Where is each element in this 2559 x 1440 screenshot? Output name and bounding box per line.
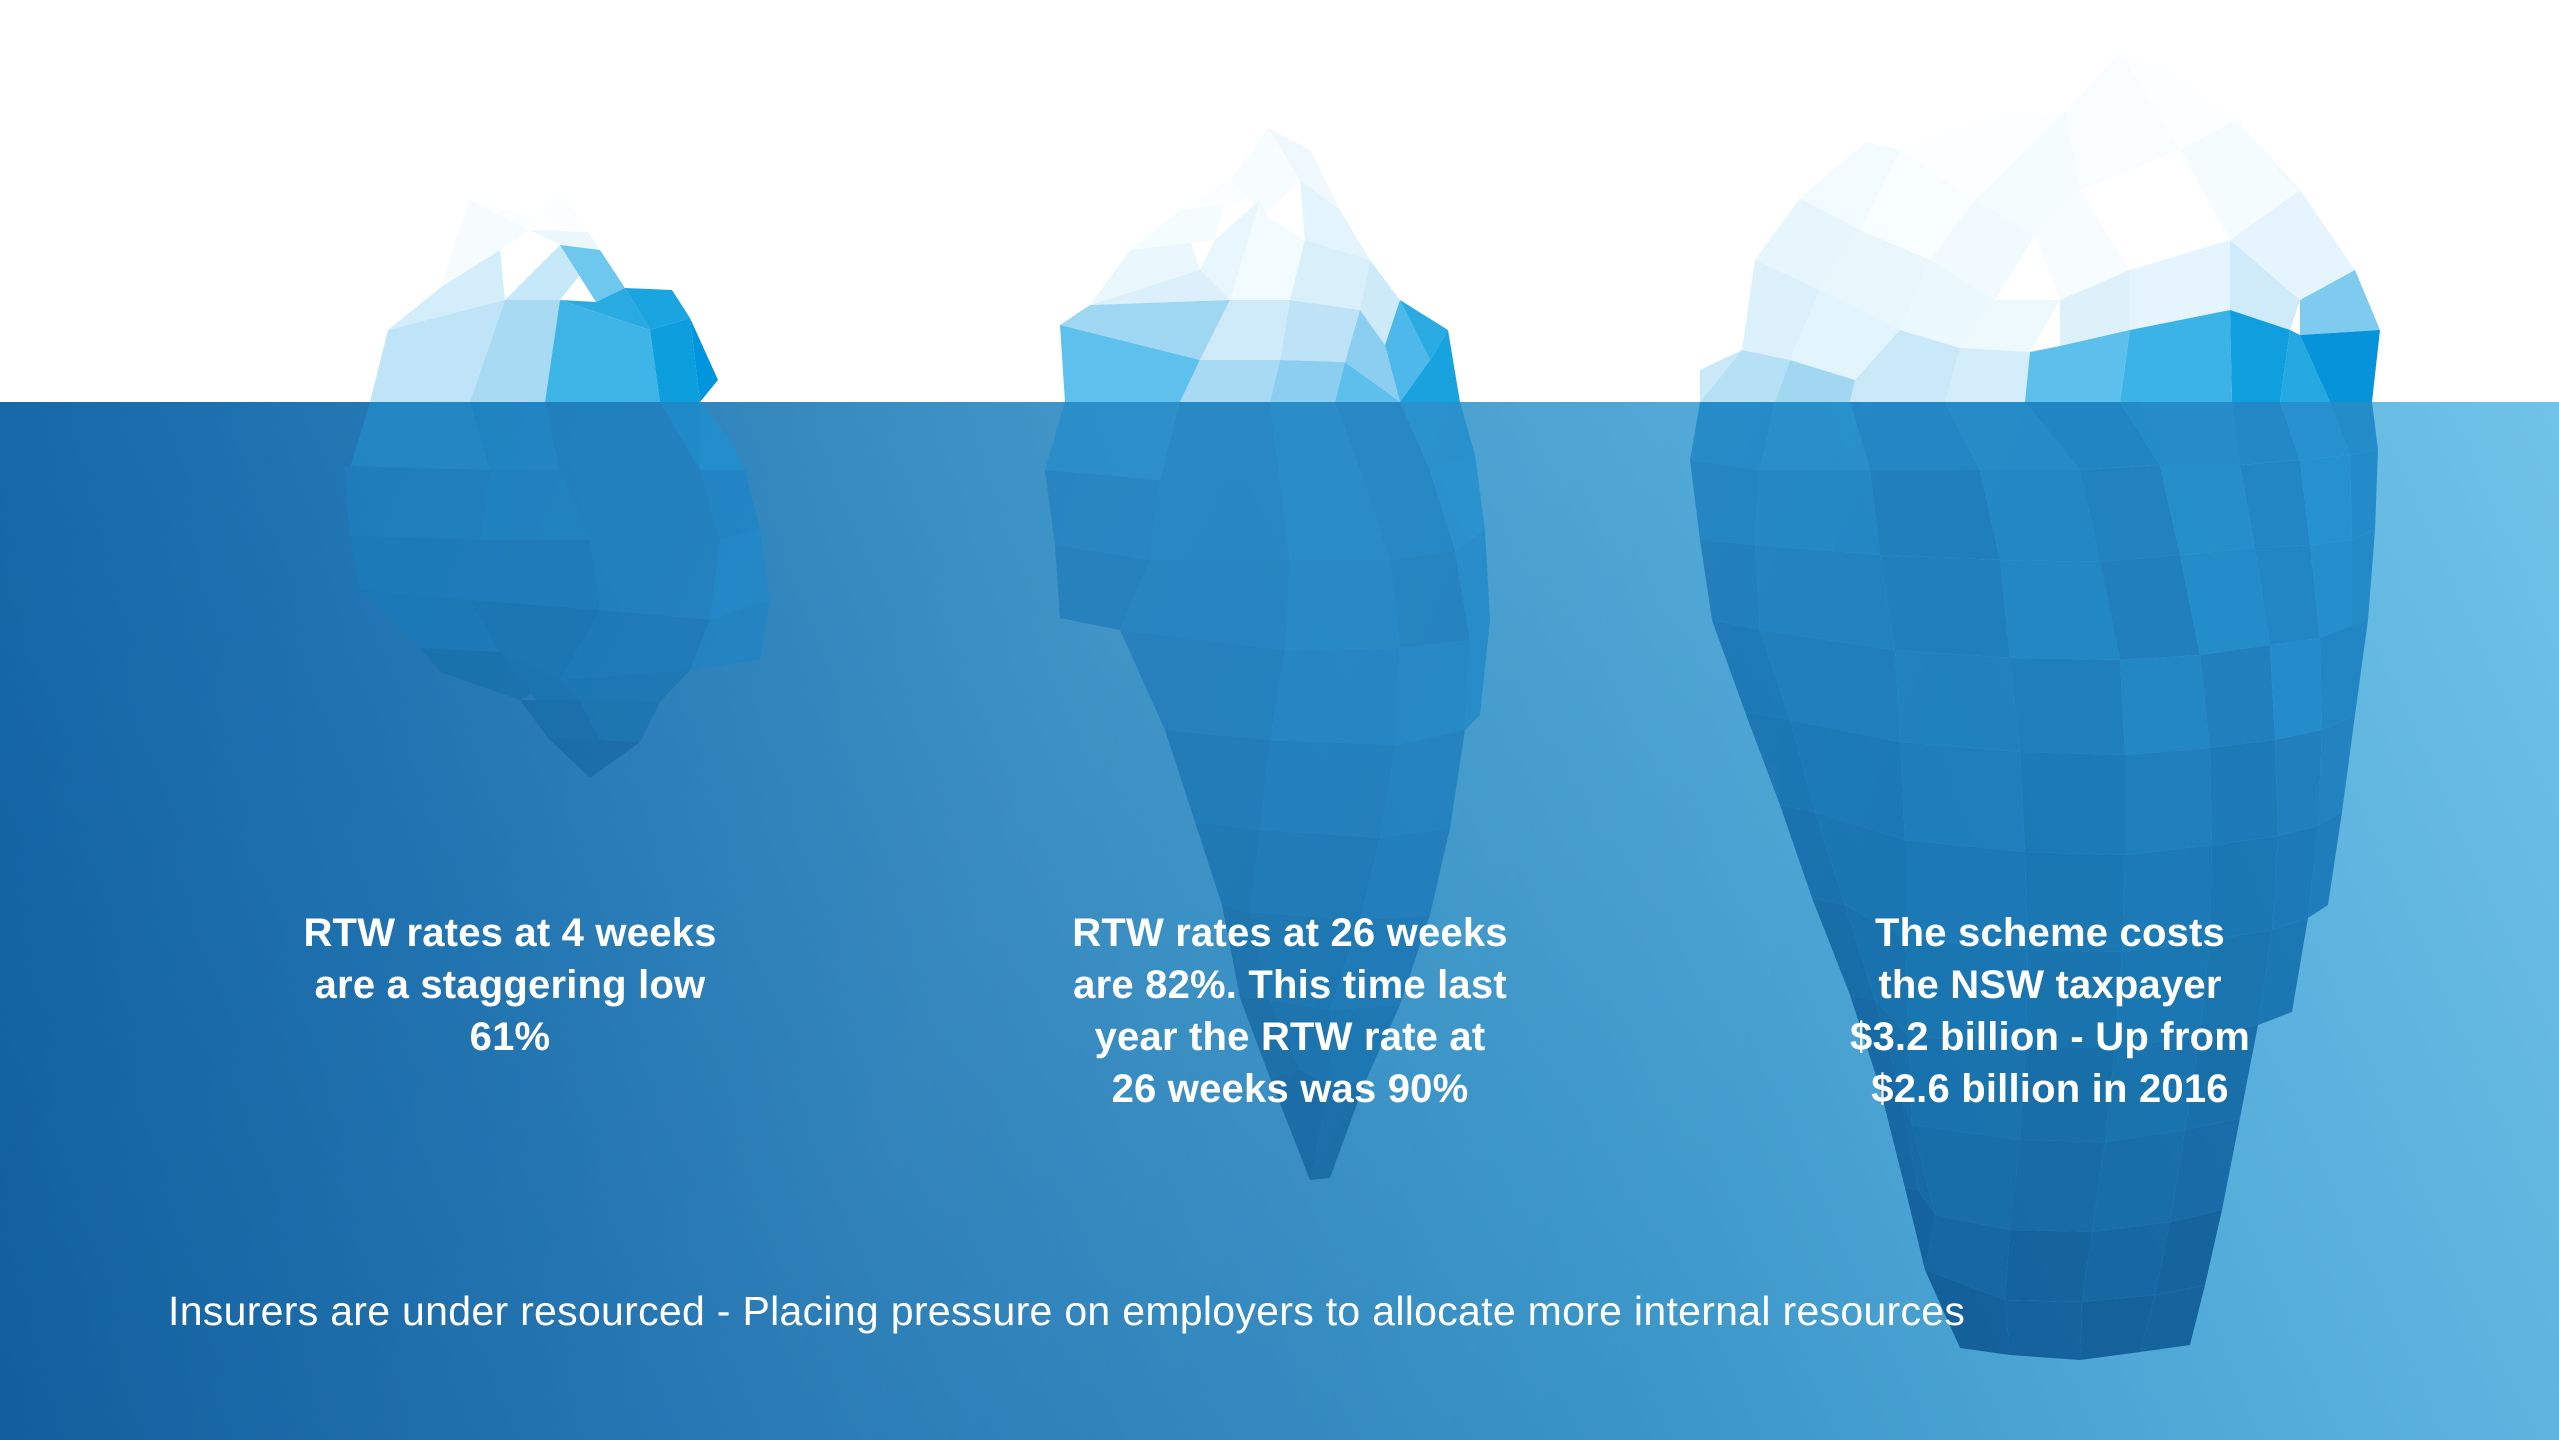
caption-rtw-4-weeks: RTW rates at 4 weeks are a staggering lo… bbox=[150, 907, 870, 1063]
caption-line: year the RTW rate at bbox=[940, 1011, 1640, 1063]
caption-line: $2.6 billion in 2016 bbox=[1700, 1063, 2400, 1115]
large-iceberg bbox=[1690, 52, 2380, 1360]
caption-line: RTW rates at 26 weeks bbox=[940, 907, 1640, 959]
caption-line: The scheme costs bbox=[1700, 907, 2400, 959]
caption-line: $3.2 billion - Up from bbox=[1700, 1011, 2400, 1063]
small-iceberg-above-water bbox=[370, 190, 718, 402]
large-iceberg-above-water bbox=[1700, 52, 2380, 402]
caption-line: are 82%. This time last bbox=[940, 959, 1640, 1011]
footer-note: Insurers are under resourced - Placing p… bbox=[168, 1288, 2468, 1335]
infographic-canvas: RTW rates at 4 weeks are a staggering lo… bbox=[0, 0, 2559, 1440]
caption-line: are a staggering low bbox=[150, 959, 870, 1011]
caption-scheme-cost: The scheme costs the NSW taxpayer $3.2 b… bbox=[1700, 907, 2400, 1115]
iceberg-illustration-group bbox=[0, 0, 2559, 1440]
caption-line: the NSW taxpayer bbox=[1700, 959, 2400, 1011]
small-iceberg bbox=[340, 190, 770, 778]
small-iceberg-below-water bbox=[340, 402, 770, 778]
caption-rtw-26-weeks: RTW rates at 26 weeks are 82%. This time… bbox=[940, 907, 1640, 1115]
caption-line: 26 weeks was 90% bbox=[940, 1063, 1640, 1115]
large-iceberg-below-water bbox=[1690, 402, 2378, 1360]
caption-line: RTW rates at 4 weeks bbox=[150, 907, 870, 959]
caption-line: 61% bbox=[150, 1011, 870, 1063]
medium-iceberg-above-water bbox=[1060, 128, 1460, 402]
